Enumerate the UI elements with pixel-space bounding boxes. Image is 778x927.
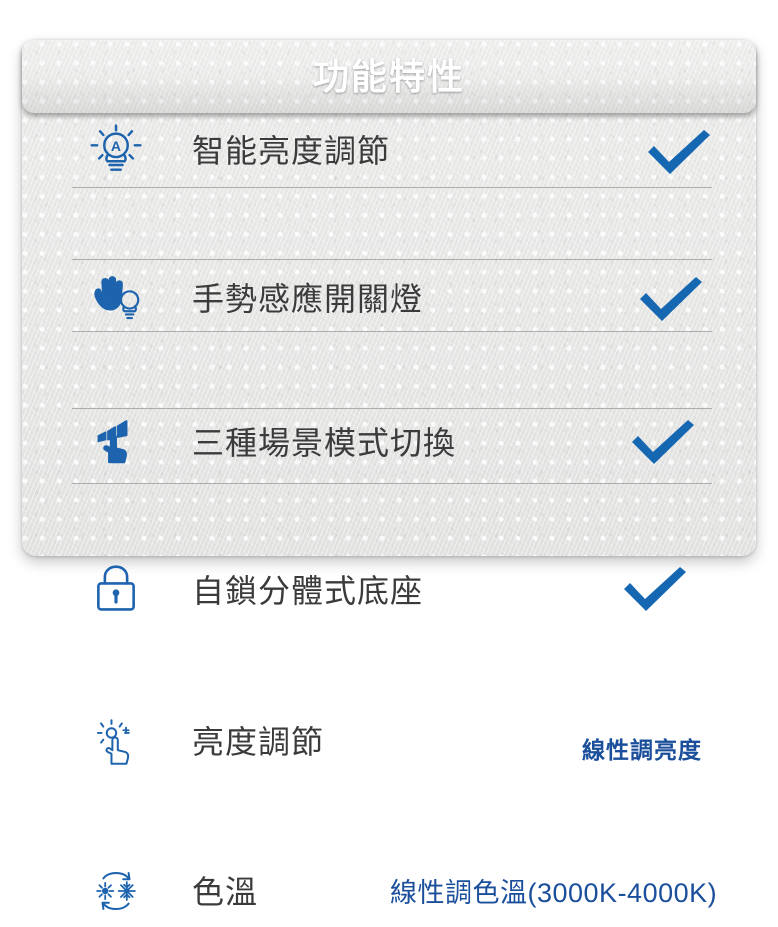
feature-check-1 [634, 125, 724, 179]
feature-label-1: 智能亮度調節 [192, 135, 390, 167]
row-divider-2 [72, 259, 712, 260]
feature-row-6: 色溫 線性調色溫(3000K-4000K) [22, 484, 756, 556]
feature-label-6: 色溫 [192, 876, 258, 908]
auto-brightness-bulb-icon: A [68, 113, 164, 187]
row-divider-4 [72, 408, 712, 409]
page-title: 功能特性 [313, 59, 465, 95]
feature-row-3: 三種場景模式切換 [22, 260, 756, 331]
feature-spec-card-stage: 功能特性 A 智能亮度調節 [0, 0, 778, 581]
color-temperature-cycle-icon [68, 855, 164, 927]
feature-check-4 [610, 560, 700, 618]
svg-text:A: A [111, 138, 121, 154]
feature-value-6: 線性調色溫(3000K-4000K) [390, 880, 717, 907]
feature-row-2: 手勢感應開關燈 [22, 188, 756, 259]
feature-list: A 智能亮度調節 [22, 113, 756, 556]
row-divider-3 [72, 331, 712, 332]
feature-label-4: 自鎖分體式底座 [192, 575, 423, 607]
feature-row-5: 亮度調節 線性調亮度 [22, 409, 756, 483]
feature-value-5: 線性調亮度 [582, 739, 702, 762]
row-divider-5 [72, 483, 712, 484]
feature-row-4: 自鎖分體式底座 [22, 332, 756, 408]
row-divider-1 [72, 187, 712, 188]
touch-brightness-icon [68, 705, 164, 779]
feature-row-1: A 智能亮度調節 [22, 113, 756, 187]
feature-label-5: 亮度調節 [192, 726, 324, 758]
card-header: 功能特性 [22, 40, 756, 113]
padlock-icon [68, 551, 164, 627]
